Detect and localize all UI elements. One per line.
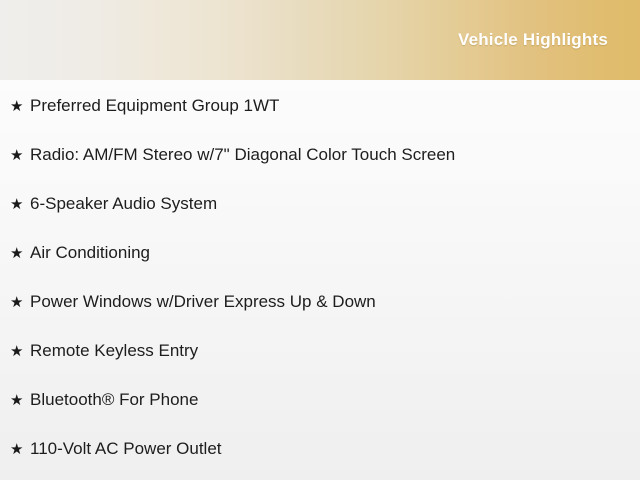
list-item: ★ Radio: AM/FM Stereo w/7" Diagonal Colo… xyxy=(0,145,640,194)
star-icon: ★ xyxy=(10,391,30,411)
list-item: ★ 6-Speaker Audio System xyxy=(0,194,640,243)
star-icon: ★ xyxy=(10,146,30,166)
list-item: ★ 110-Volt AC Power Outlet xyxy=(0,439,640,480)
page-title: Vehicle Highlights xyxy=(458,29,608,51)
list-item: ★ Air Conditioning xyxy=(0,243,640,292)
list-item: ★ Bluetooth® For Phone xyxy=(0,390,640,439)
vehicle-highlights-panel: Vehicle Highlights ★ Preferred Equipment… xyxy=(0,0,640,480)
star-icon: ★ xyxy=(10,440,30,460)
list-item: ★ Power Windows w/Driver Express Up & Do… xyxy=(0,292,640,341)
star-icon: ★ xyxy=(10,97,30,117)
list-item: ★ Remote Keyless Entry xyxy=(0,341,640,390)
star-icon: ★ xyxy=(10,342,30,362)
star-icon: ★ xyxy=(10,293,30,313)
list-item-label: 6-Speaker Audio System xyxy=(30,194,217,214)
list-item-label: Air Conditioning xyxy=(30,243,150,263)
list-item-label: 110-Volt AC Power Outlet xyxy=(30,439,222,459)
vehicle-highlights-list: ★ Preferred Equipment Group 1WT ★ Radio:… xyxy=(0,80,640,480)
list-item-label: Radio: AM/FM Stereo w/7" Diagonal Color … xyxy=(30,145,455,165)
list-item-label: Preferred Equipment Group 1WT xyxy=(30,96,279,116)
list-item-label: Bluetooth® For Phone xyxy=(30,390,198,410)
list-item: ★ Preferred Equipment Group 1WT xyxy=(0,80,640,145)
list-item-label: Remote Keyless Entry xyxy=(30,341,198,361)
star-icon: ★ xyxy=(10,195,30,215)
list-item-label: Power Windows w/Driver Express Up & Down xyxy=(30,292,376,312)
star-icon: ★ xyxy=(10,244,30,264)
panel-header: Vehicle Highlights xyxy=(0,0,640,80)
